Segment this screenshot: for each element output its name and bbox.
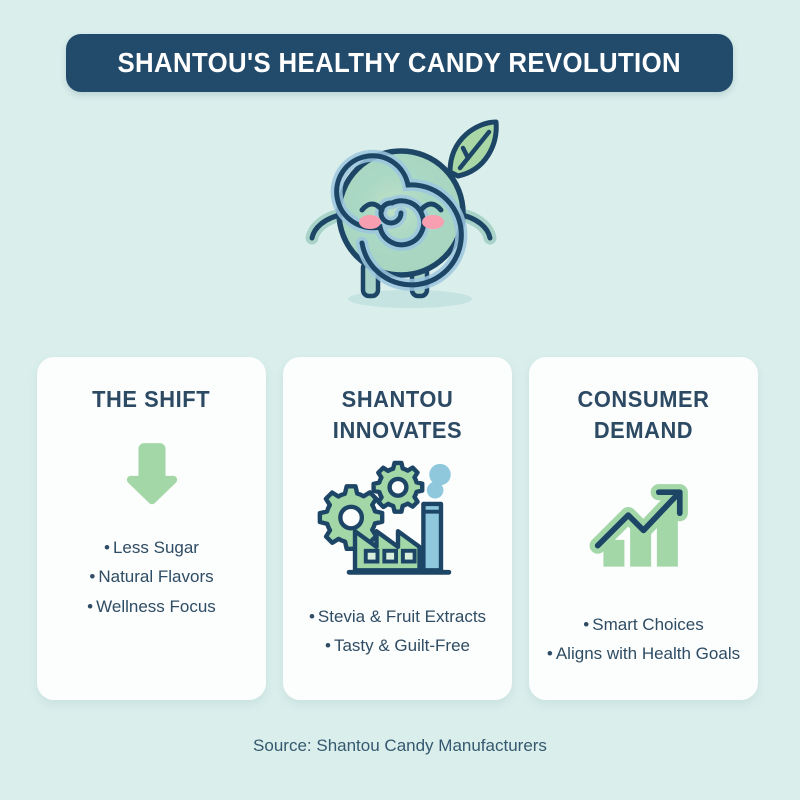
page-title: SHANTOU'S HEALTHY CANDY REVOLUTION xyxy=(118,47,681,79)
list-item-label: Wellness Focus xyxy=(96,597,216,616)
title-banner: SHANTOU'S HEALTHY CANDY REVOLUTION xyxy=(66,34,733,92)
list-item: •Less Sugar xyxy=(49,533,254,562)
list-item-label: Tasty & Guilt-Free xyxy=(334,636,470,655)
card-the-shift[interactable]: THE SHIFT •Less Sugar •Natural Flavors •… xyxy=(37,357,266,700)
list-item: •Smart Choices xyxy=(541,610,746,639)
bullet-dot: • xyxy=(104,538,110,557)
bullet-dot: • xyxy=(89,567,95,586)
list-item-label: Smart Choices xyxy=(592,615,703,634)
bullet-dot: • xyxy=(583,615,589,634)
list-item: •Natural Flavors xyxy=(49,562,254,591)
card-title: THE SHIFT xyxy=(92,384,210,415)
blush-right xyxy=(422,215,444,229)
gear-small xyxy=(373,462,422,511)
card-shantou-innovates[interactable]: SHANTOU INNOVATES xyxy=(283,357,512,700)
growth-chart-icon xyxy=(586,472,701,582)
smoke-puffs xyxy=(426,463,450,498)
list-item: •Tasty & Guilt-Free xyxy=(295,631,500,660)
card-bullet-list: •Smart Choices •Aligns with Health Goals xyxy=(541,610,746,668)
factory-chimney xyxy=(423,503,441,569)
list-item: •Stevia & Fruit Extracts xyxy=(295,602,500,631)
bullet-dot: • xyxy=(309,607,315,626)
list-item-label: Aligns with Health Goals xyxy=(556,644,740,663)
card-bullet-list: •Less Sugar •Natural Flavors •Wellness F… xyxy=(49,533,254,621)
list-item-label: Stevia & Fruit Extracts xyxy=(318,607,486,626)
card-title: CONSUMER DEMAND xyxy=(546,384,741,446)
bullet-dot: • xyxy=(547,644,553,663)
cards-row: THE SHIFT •Less Sugar •Natural Flavors •… xyxy=(37,357,758,700)
card-title: SHANTOU INNOVATES xyxy=(300,384,495,446)
card-consumer-demand[interactable]: CONSUMER DEMAND xyxy=(529,357,758,700)
bullet-dot: • xyxy=(87,597,93,616)
candy-mascot-illustration xyxy=(300,110,520,320)
factory-windows xyxy=(365,550,414,561)
gear-large xyxy=(319,486,381,549)
list-item-label: Natural Flavors xyxy=(98,567,213,586)
card-bullet-list: •Stevia & Fruit Extracts •Tasty & Guilt-… xyxy=(295,602,500,660)
leaf-icon xyxy=(450,122,496,176)
bullet-dot: • xyxy=(325,636,331,655)
list-item-label: Less Sugar xyxy=(113,538,199,557)
factory-gears-icon xyxy=(310,460,486,580)
blush-left xyxy=(359,215,381,229)
list-item: •Wellness Focus xyxy=(49,592,254,621)
infographic-canvas: SHANTOU'S HEALTHY CANDY REVOLUTION xyxy=(0,0,800,800)
list-item: •Aligns with Health Goals xyxy=(541,639,746,668)
down-arrow-icon xyxy=(123,437,181,511)
source-caption: Source: Shantou Candy Manufacturers xyxy=(0,736,800,756)
